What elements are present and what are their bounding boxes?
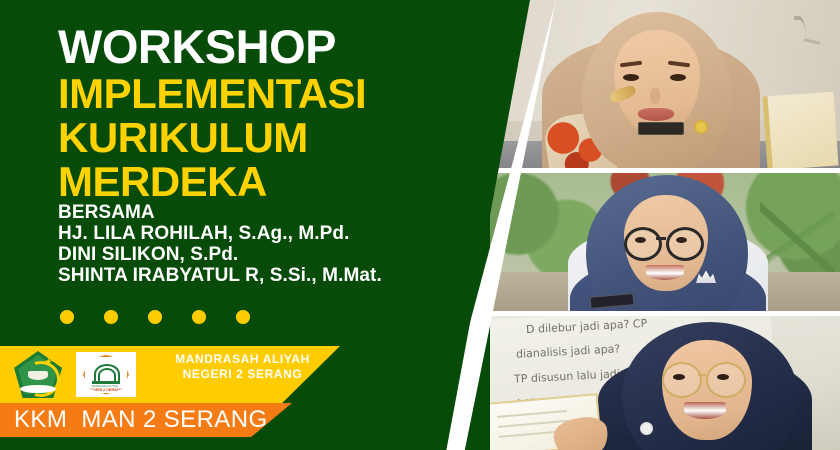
decorative-dot-row: [60, 310, 250, 324]
headline-block: WORKSHOP IMPLEMENTASI KURIKULUM MERDEKA: [58, 22, 458, 204]
kemenag-ribbon: [20, 385, 56, 393]
photo1-papers: [763, 92, 839, 168]
presenter-name-3: SHINTA IRABYATUL R, S.Si., M.Mat.: [58, 265, 498, 286]
presenter-block: BERSAMA HJ. LILA ROHILAH, S.Ag., M.Pd. D…: [58, 202, 498, 286]
photo-column: D dilebur jadi apa? CP dianalisis jadi a…: [490, 0, 840, 450]
kkm-banner-text: KKM MAN 2 SERANG: [14, 405, 268, 434]
dot-icon: [60, 310, 74, 324]
photo-presenter-3: D dilebur jadi apa? CP dianalisis jadi a…: [490, 316, 840, 450]
photo3-glasses-bridge-icon: [698, 374, 706, 376]
presenter-intro: BERSAMA: [58, 202, 498, 223]
school-logo-base: [92, 381, 118, 384]
photo2-smile: [646, 265, 684, 280]
photo2-glasses-right-lens-icon: [666, 227, 704, 261]
school-logo-icon: MADRASAH ALIYAH NEGERI 2 SERANG: [76, 352, 136, 397]
dot-icon: [148, 310, 162, 324]
presenter-name-2: DINI SILIKON, S.Pd.: [58, 244, 498, 265]
photo1-eye-right: [670, 74, 686, 81]
photo1-nose: [650, 88, 660, 104]
photo3-sheet-line: [497, 410, 567, 418]
kemenag-star-icon: ★: [44, 358, 53, 368]
photo2-glasses-left-lens-icon: [624, 227, 662, 261]
photo3-eye-left: [673, 374, 685, 380]
photo3-glasses-left-lens-icon: [662, 362, 702, 398]
poster-canvas: D dilebur jadi apa? CP dianalisis jadi a…: [0, 0, 840, 450]
institution-line-2: NEGERI 2 SERANG: [155, 367, 330, 382]
photo3-smile: [684, 402, 726, 419]
dot-icon: [236, 310, 250, 324]
photo2-eye-left: [635, 237, 646, 243]
institution-name-block: MANDRASAH ALIYAH NEGERI 2 SERANG: [155, 352, 330, 382]
school-logo-caption-bold: NEGERI 2 SERANG: [85, 387, 125, 392]
title-merdeka: MERDEKA: [58, 160, 458, 204]
photo3-hijab-pin-icon: [640, 422, 653, 435]
title-implementasi: IMPLEMENTASI: [58, 72, 458, 116]
dot-icon: [192, 310, 206, 324]
photo1-smile: [638, 108, 674, 121]
school-logo-frame: MADRASAH ALIYAH NEGERI 2 SERANG: [83, 355, 129, 395]
photo-presenter-1: [490, 0, 840, 168]
photo1-uniform-emblem-icon: [694, 120, 708, 134]
dot-icon: [104, 310, 118, 324]
photo2-glasses-bridge-icon: [656, 237, 666, 240]
presenter-name-1: HJ. LILA ROHILAH, S.Ag., M.Pd.: [58, 223, 498, 244]
kemenag-book-icon: [28, 371, 48, 380]
photo3-glasses-right-lens-icon: [706, 362, 746, 398]
photo1-name-badge: [638, 122, 684, 135]
institution-line-1: MANDRASAH ALIYAH: [155, 352, 330, 367]
kemenag-logo-icon: ★: [14, 351, 62, 398]
photo3-eye-right: [717, 374, 729, 380]
photo2-eye-right: [676, 237, 687, 243]
photo1-eye-left: [623, 74, 639, 81]
photo-presenter-2: [490, 173, 840, 311]
title-workshop: WORKSHOP: [58, 22, 458, 72]
title-kurikulum: KURIKULUM: [58, 116, 458, 160]
